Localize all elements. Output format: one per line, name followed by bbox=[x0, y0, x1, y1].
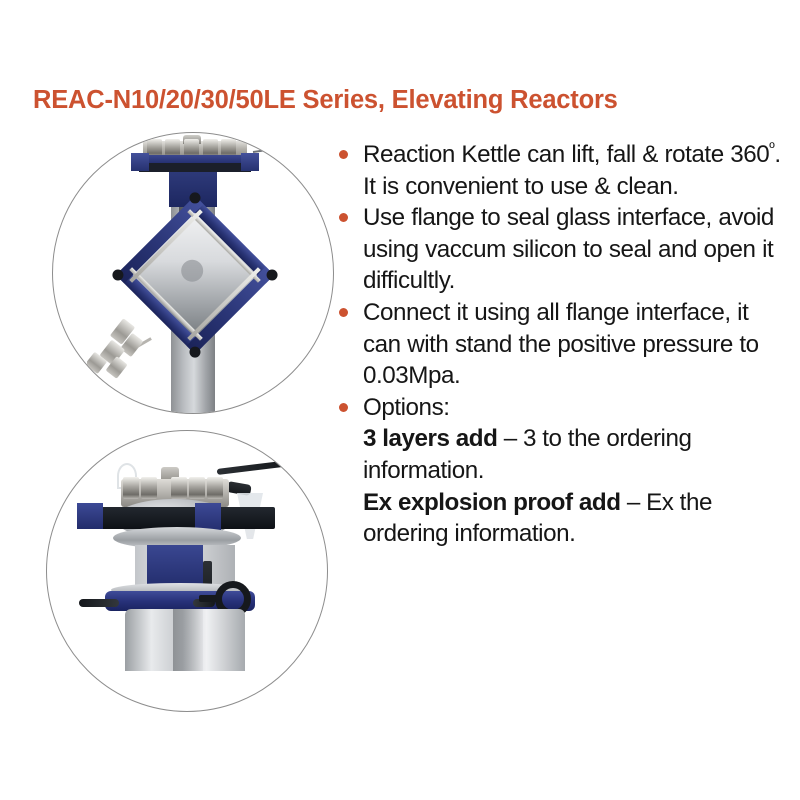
lid-bracket-right bbox=[241, 153, 259, 171]
feature-bullet-2: Use flange to seal glass interface, avoi… bbox=[336, 202, 784, 297]
flange-clamp-icon bbox=[207, 477, 223, 499]
feature-list: Reaction Kettle can lift, fall & rotate … bbox=[336, 139, 784, 550]
option-3-layers-bold: 3 layers add bbox=[363, 425, 497, 452]
lid-bracket-left bbox=[131, 153, 149, 171]
plate-bracket-left bbox=[77, 503, 103, 529]
flange-clamp-icon bbox=[189, 477, 205, 499]
option-item-3-layers: 3 layers add – 3 to the ordering informa… bbox=[336, 423, 784, 486]
bullet-dot-icon bbox=[339, 403, 348, 412]
feature-bullet-2-text: Use flange to seal glass interface, avoi… bbox=[363, 202, 784, 297]
lid-plate-shadow bbox=[139, 163, 251, 172]
product-photo-top bbox=[52, 132, 334, 414]
support-rod-horizontal bbox=[217, 460, 289, 475]
feature-bullet-1-text: Reaction Kettle can lift, fall & rotate … bbox=[363, 139, 784, 202]
flange-clamp-icon bbox=[171, 477, 187, 499]
options-label: Options: bbox=[363, 392, 784, 424]
flange-clamp-icon bbox=[123, 477, 139, 499]
product-photo-bottom-image bbox=[77, 449, 295, 671]
product-photo-top-image bbox=[87, 133, 299, 413]
feature-bullet-4-options: Options: bbox=[336, 392, 784, 424]
feature-bullet-3: Connect it using all flange interface, i… bbox=[336, 297, 784, 392]
upper-mounting-plate bbox=[83, 507, 275, 529]
feature-bullet-3-text: Connect it using all flange interface, i… bbox=[363, 297, 784, 392]
product-datasheet-page: REAC-N10/20/30/50LE Series, Elevating Re… bbox=[0, 0, 800, 800]
feature-bullet-1: Reaction Kettle can lift, fall & rotate … bbox=[336, 139, 784, 202]
degree-symbol: º bbox=[769, 140, 774, 157]
discharge-valve-cluster bbox=[87, 311, 170, 404]
bullet-dot-icon bbox=[339, 150, 348, 159]
bullet-dot-icon bbox=[339, 213, 348, 222]
bullet-dot-icon bbox=[339, 308, 348, 317]
flange-clamp-icon bbox=[141, 477, 157, 499]
page-title: REAC-N10/20/30/50LE Series, Elevating Re… bbox=[33, 86, 773, 115]
product-photo-column bbox=[40, 128, 330, 728]
option-item-ex-proof: Ex explosion proof add – Ex the ordering… bbox=[336, 487, 784, 550]
lid-support-rod bbox=[253, 146, 287, 153]
option-ex-proof-bold: Ex explosion proof add bbox=[363, 489, 621, 516]
product-photo-bottom bbox=[46, 430, 328, 712]
clamp-handle-left bbox=[79, 599, 119, 607]
vessel-shading bbox=[173, 609, 203, 671]
